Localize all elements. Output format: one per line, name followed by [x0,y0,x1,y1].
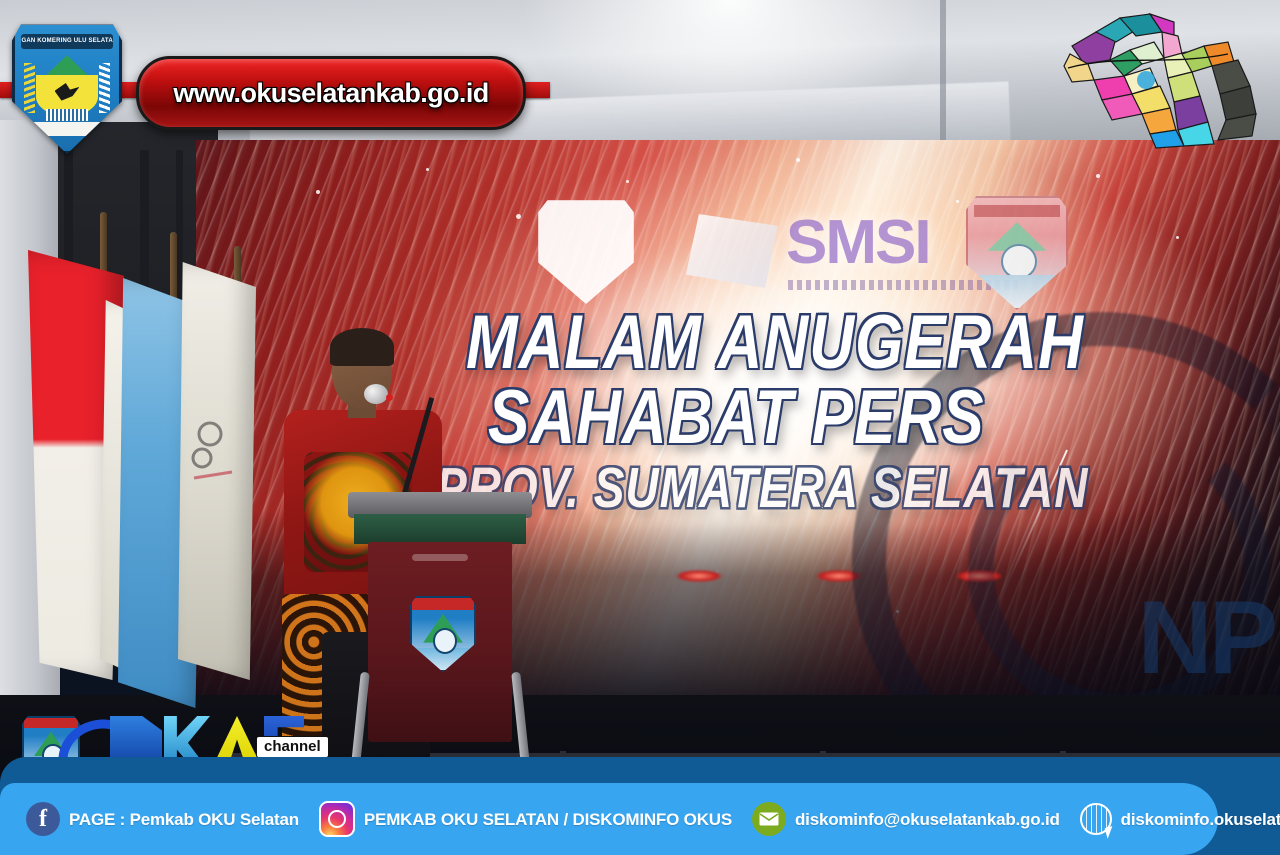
screenshot-root: SMSI MALAM ANUGERAH SAHABAT PERS PROV. S… [0,0,1280,855]
smsi-wordmark: SMSI [786,212,930,274]
led-spark [426,168,429,171]
district-map-svg [1058,2,1276,152]
speaker-hair [330,328,394,366]
footer-instagram-label: PEMKAB OKU SELATAN / DISKOMINFO OKUS [364,811,732,828]
led-spark [626,180,629,183]
podium-crest-icon [410,596,472,668]
footer-email-label: diskominfo@okuselatankab.go.id [795,811,1060,828]
website-url-pill[interactable]: www.okuselatankab.go.id [136,56,526,130]
crest-scroll [30,122,105,136]
banner-line-2: SAHABAT PERS [488,383,1280,453]
crest-leaf-left [24,63,34,113]
flag-grey-emblem [186,400,242,520]
footer-item-facebook[interactable]: f PAGE : Pemkab OKU Selatan [26,802,299,836]
footer-item-email[interactable]: diskominfo@okuselatankab.go.id [752,802,1060,836]
podium-slot [412,554,468,561]
banner-line-1: MALAM ANUGERAH [466,308,1280,378]
footer-item-instagram[interactable]: PEMKAB OKU SELATAN / DISKOMINFO OKUS [319,801,732,837]
website-url-label: www.okuselatankab.go.id [173,80,488,107]
crest-bridge [46,109,88,120]
led-spark [1176,236,1179,239]
stage-footlight [676,570,722,582]
crest-logo-right-icon [966,196,1064,306]
smsi-mark-icon [686,214,778,288]
odkaf-channel-badge: channel [256,736,329,758]
crest-leaf-right [99,63,109,113]
facebook-icon: f [26,802,60,836]
crest-okus: OGAN KOMERING ULU SELATAN [12,22,116,148]
website-icon [1080,803,1112,835]
microphone-head [364,384,388,404]
banner-line-3: PROV. SUMATERA SELATAN [436,462,1280,514]
podium-with-crest [360,492,520,762]
footer-facebook-label: PAGE : Pemkab OKU Selatan [69,811,299,828]
banner-headline: MALAM ANUGERAH SAHABAT PERS PROV. SUMATE… [466,308,1280,504]
ceiling-beam [940,0,946,150]
banner-logo-row: SMSI [538,196,1098,312]
shield-logo-white-icon [538,200,634,304]
footer-item-website[interactable]: diskominfo.okuselatankab.go.id [1080,803,1280,835]
map-ogan-komering-ulu-selatan [1058,2,1276,152]
np-watermark: NP [1138,586,1274,690]
instagram-icon [319,801,355,837]
led-spark [316,190,320,194]
crest-ring-text: OGAN KOMERING ULU SELATAN [21,34,113,49]
footer-band-light: f PAGE : Pemkab OKU Selatan PEMKAB OKU S… [0,783,1218,855]
microphone-indicator [386,394,393,401]
led-spark [1096,174,1100,178]
email-icon [752,802,786,836]
led-spark [796,158,800,162]
podium-green-band [354,514,526,544]
footer-website-label: diskominfo.okuselatankab.go.id [1121,811,1280,828]
led-spark [516,214,521,219]
